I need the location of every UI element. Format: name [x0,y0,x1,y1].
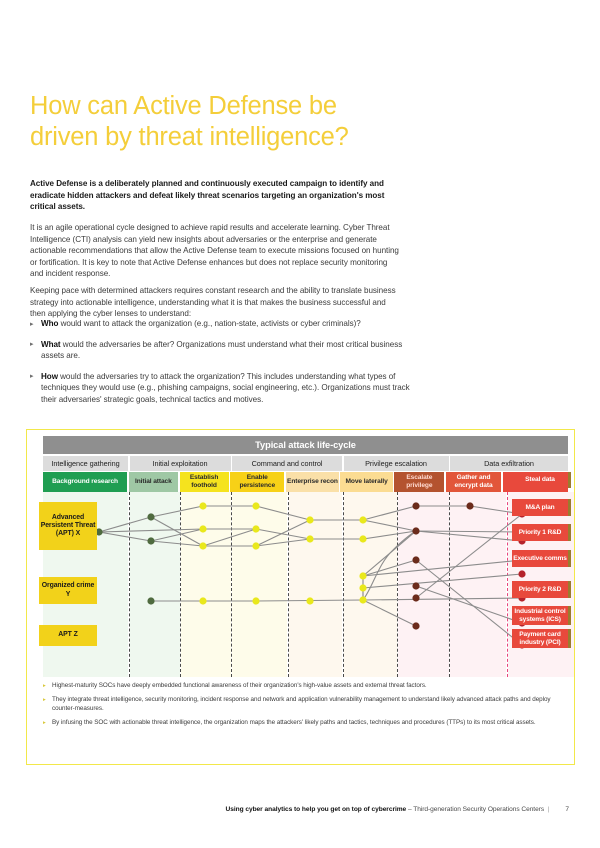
threat-actor-3: APT Z [39,625,97,646]
attack-node-darkred [412,622,419,629]
attack-node-yellow [252,525,259,532]
attack-node-yellow [199,525,206,532]
footer-subtitle: Third-generation Security Operations Cen… [413,806,544,813]
attack-node-green [147,537,154,544]
stage-header-row: Background researchInitial attackEstabli… [43,472,568,492]
attack-node-darkred [466,502,473,509]
attack-node-yellow [252,502,259,509]
attack-node-green [147,597,154,604]
phase-cell-2: Command and control [232,456,342,471]
attack-node-yellow [199,502,206,509]
attack-node-yellow [306,535,313,542]
attack-node-yellow [359,572,366,579]
figure-note-2: ▸They integrate threat intelligence, sec… [43,696,563,713]
attack-node-darkred [412,582,419,589]
footer-dash: – [408,806,412,813]
figure-note-3: ▸By infusing the SOC with actionable thr… [43,719,563,727]
attack-node-yellow [199,597,206,604]
bullet-arrow-icon: ▸ [30,339,33,351]
note-arrow-icon: ▸ [43,682,46,690]
attack-path-edge [416,586,522,623]
bullet-arrow-icon: ▸ [30,371,33,383]
attack-path-edge [416,560,522,645]
note-arrow-icon: ▸ [43,696,46,704]
phase-cell-0: Intelligence gathering [43,456,128,471]
question-bullet-1: ▸Who would want to attack the organizati… [30,318,412,330]
target-asset-2: M&A plan [512,499,571,516]
phase-header-row: Intelligence gatheringInitial exploitati… [43,456,568,471]
stage-cell-7: Gather and encrypt data [446,472,501,492]
attack-path-network [33,492,568,677]
page-title-line1: How can Active Defense be [30,92,337,120]
attack-path-edge [363,560,522,576]
target-asset-6: Industrial control systems (ICS) [512,606,571,625]
page-footer: Using cyber analytics to help you get on… [0,806,600,813]
attack-node-yellow [199,542,206,549]
attack-path-edge [151,506,203,517]
footer-title-bold: Using cyber analytics to help you get on… [226,806,407,813]
target-asset-1: Steal data [512,472,571,488]
threat-actor-1: Advanced Persistent Threat (APT) X [39,502,97,550]
attack-path-edge [416,531,522,541]
footer-separator: | [548,806,550,813]
attack-path-edge [99,529,203,532]
attack-path-edge [99,532,151,541]
attack-node-darkred [412,594,419,601]
question-bullet-2: ▸What would the adversaries be after? Or… [30,339,412,362]
note-arrow-icon: ▸ [43,719,46,727]
target-asset-7: Payment card industry (PCI) [512,629,571,648]
attack-lifecycle-figure: Typical attack life-cycle Intelligence g… [26,429,575,765]
attack-node-yellow [252,542,259,549]
attack-path-edge [416,514,522,598]
stage-cell-6: Escalate privilege [394,472,444,492]
attack-path-edge [203,529,256,546]
attack-path-curve [363,531,416,600]
footer-page-number: 7 [565,806,569,813]
attack-path-edge [363,600,416,626]
attack-node-yellow [252,597,259,604]
stage-cell-0: Background research [43,472,127,492]
attack-path-edge [256,506,310,520]
attack-node-darkred [412,556,419,563]
attack-node-green [147,513,154,520]
document-page: How can Active Defense be driven by thre… [0,0,600,848]
attack-node-yellow [359,516,366,523]
attack-node-yellow [359,535,366,542]
attack-path-edge [363,520,416,531]
question-bullet-3: ▸How would the adversaries try to attack… [30,371,412,406]
target-asset-3: Priority 1 R&D [512,524,571,541]
stage-cell-4: Enterprise recon [286,472,339,492]
phase-cell-1: Initial exploitation [130,456,231,471]
stage-cell-1: Initial attack [129,472,178,492]
body-paragraph-1: It is an agile operational cycle designe… [30,222,402,280]
phase-cell-3: Privilege escalation [344,456,449,471]
attack-node-yellow [306,516,313,523]
attack-node-red [518,570,525,577]
stage-cell-5: Move laterally [340,472,392,492]
attack-node-darkred [412,502,419,509]
page-title: How can Active Defense be driven by thre… [30,91,450,153]
figure-footnote-list: ▸Highest-maturity SOCs have deeply embed… [43,682,563,734]
attack-path-edge [363,598,522,600]
target-asset-5: Priority 2 R&D [512,581,571,598]
question-bullet-list: ▸Who would want to attack the organizati… [30,318,412,415]
page-title-line2: driven by threat intelligence? [30,123,349,151]
figure-header-title: Typical attack life-cycle [43,436,568,454]
attack-node-yellow [359,596,366,603]
stage-cell-2: Establish foothold [180,472,229,492]
figure-note-1: ▸Highest-maturity SOCs have deeply embed… [43,682,563,690]
stage-cell-3: Enable persistence [230,472,284,492]
target-asset-4: Executive comms [512,550,571,567]
attack-path-edge [416,531,522,532]
bullet-arrow-icon: ▸ [30,319,33,331]
threat-actor-2: Organized crime Y [39,577,97,604]
attack-path-edge [363,506,416,520]
attack-node-darkred [412,527,419,534]
attack-path-edge [256,529,310,539]
attack-path-edge [99,517,151,532]
lead-paragraph: Active Defense is a deliberately planned… [30,178,402,213]
phase-cell-4: Data exfiltration [450,456,568,471]
attack-node-yellow [306,597,313,604]
body-paragraph-2: Keeping pace with determined attackers r… [30,285,402,320]
attack-node-yellow [359,584,366,591]
